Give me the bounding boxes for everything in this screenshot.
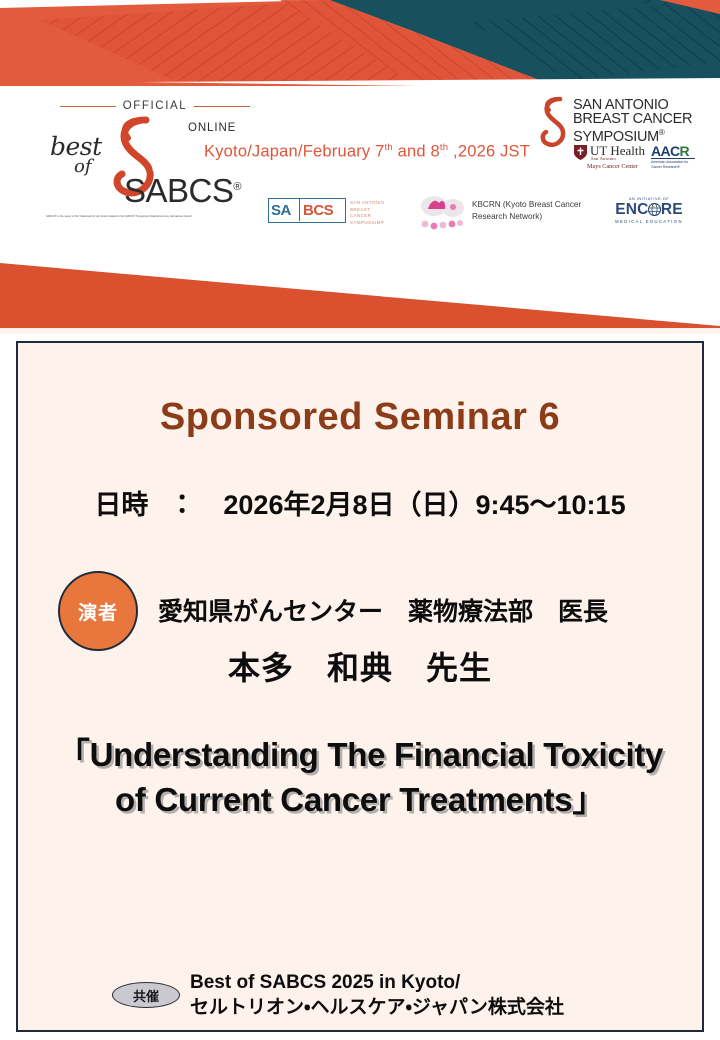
- seminar-panel: Sponsored Seminar 6 日時 ： 2026年2月8日（日）9:4…: [16, 341, 704, 1032]
- sabcs-boxed-logo: SA BCS SAN ANTONIOBREASTCANCERSYMPOSIUM®: [268, 198, 388, 228]
- sabcs-box-bcs-text: BCS: [303, 202, 333, 219]
- bestof-of-text: of: [74, 156, 92, 177]
- ut-health-sub1: San Antonio: [591, 156, 616, 161]
- encore-wordmark: ENCORE: [612, 202, 686, 218]
- speaker-affiliation: 愛知県がんセンター 薬物療法部 医長: [158, 592, 608, 628]
- shield-icon: [573, 144, 588, 161]
- aacr-rule: [651, 158, 695, 159]
- encore-medical-education-logo: AN INITIATIVE OF ENCORE MEDICAL EDUCATIO…: [612, 193, 686, 231]
- header-banner-graphic: [0, 0, 720, 88]
- page-title: Sponsored Seminar 6: [18, 396, 702, 439]
- official-rule-right: [194, 106, 250, 107]
- online-label: ONLINE: [188, 122, 236, 134]
- sponsor-names: Best of SABCS 2025 in Kyoto/セルトリオン・ヘルスケア…: [190, 970, 564, 1021]
- speaker-badge: 演者: [58, 571, 138, 651]
- registered-mark-2: ®: [659, 128, 665, 137]
- official-row: OFFICIAL: [60, 98, 250, 114]
- ut-health-logo: UT Health San Antonio Mays Cancer Center: [573, 143, 647, 173]
- registered-mark: ®: [233, 181, 241, 193]
- kbcrn-label: KBCRN (Kyoto Breast CancerResearch Netwo…: [472, 199, 581, 224]
- sabcs-box-divider: [299, 198, 300, 221]
- orange-wedge-graphic: [0, 248, 720, 334]
- aacr-logo: AACR American Association for Cancer Res…: [651, 143, 699, 173]
- official-rule-left: [60, 106, 116, 107]
- banner-shapes: [0, 0, 720, 88]
- sponsor-badge: 共催: [112, 982, 180, 1008]
- sponsor-row: 共催 Best of SABCS 2025 in Kyoto/セルトリオン・ヘル…: [18, 964, 702, 1022]
- sabcs-box-sa-text: SA: [271, 202, 291, 219]
- ut-health-sub2: Mays Cancer Center: [587, 163, 638, 170]
- datetime-line: 日時 ： 2026年2月8日（日）9:45～10:15: [18, 483, 702, 522]
- encore-bottom-label: MEDICAL EDUCATION: [612, 219, 686, 224]
- sabcs-ribbon-icon-small: [537, 96, 571, 154]
- aacr-subtitle: American Association for Cancer Research…: [651, 160, 699, 169]
- kbcrn-logo: KBCRN (Kyoto Breast CancerResearch Netwo…: [420, 193, 590, 231]
- lecture-title: 「Understanding The Financial Toxicity of…: [44, 733, 676, 823]
- bestof-sabcs-text: SABCS®: [124, 172, 241, 210]
- event-date-line: Kyoto/Japan/February 7th and 8th ,2026 J…: [204, 142, 530, 162]
- kbcrn-cells-icon: [420, 193, 468, 231]
- san-antonio-breast-cancer-symposium-logo: SAN ANTONIOBREAST CANCERSYMPOSIUM® UT He…: [533, 96, 693, 174]
- official-label: OFFICIAL: [123, 100, 188, 112]
- sabcs-box-caption: SAN ANTONIOBREASTCANCERSYMPOSIUM®: [350, 200, 385, 227]
- globe-icon: [648, 203, 661, 216]
- aacr-wordmark: AACR: [651, 143, 689, 159]
- sabcs-full-name: SAN ANTONIOBREAST CANCERSYMPOSIUM®: [573, 98, 692, 144]
- speaker-name: 本多 和典 先生: [18, 643, 702, 689]
